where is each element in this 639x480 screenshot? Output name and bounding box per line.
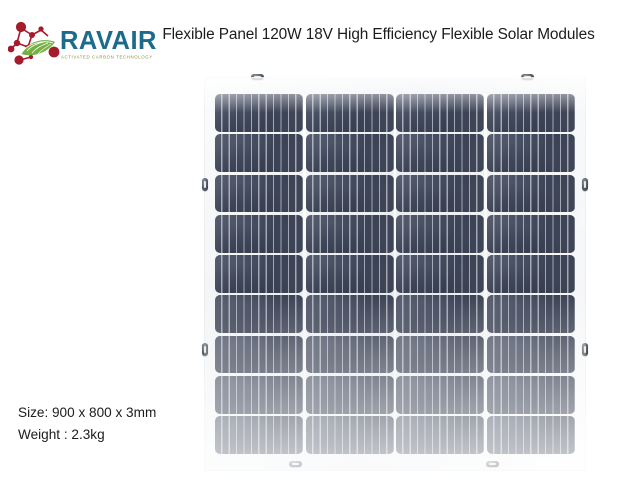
solar-cell [487,255,575,293]
grommet-hole [584,346,586,353]
solar-cell [306,94,394,132]
grommet-hole [292,463,299,465]
solar-cell [396,175,484,213]
solar-cell [215,336,303,374]
grommet-left-lower [202,343,208,356]
solar-cell [487,376,575,414]
brand-tagline-text: ACTIVATED CARBON TECHNOLOGY [61,55,153,60]
solar-cell [306,376,394,414]
solar-cell [487,134,575,172]
solar-cell [487,215,575,253]
solar-cell [487,295,575,333]
solar-cell [396,336,484,374]
flexible-solar-panel-image [204,77,586,471]
solar-cell [396,255,484,293]
page-title: Flexible Panel 120W 18V High Efficiency … [0,26,639,44]
solar-cell [487,94,575,132]
grommet-bottom-left [289,461,302,467]
solar-cell [306,134,394,172]
grommet-hole [204,181,206,188]
solar-cell [306,255,394,293]
grommet-hole [254,76,261,78]
spec-size: Size: 900 x 800 x 3mm [18,402,156,424]
solar-cell [215,295,303,333]
grommet-right-upper [582,178,588,191]
grommet-bottom-right [486,461,499,467]
grommet-top-right [521,74,534,80]
solar-cell [487,175,575,213]
solar-cell [215,175,303,213]
solar-cell [487,416,575,454]
solar-cell [396,416,484,454]
solar-cell [396,215,484,253]
grommet-hole [204,346,206,353]
solar-cell [396,295,484,333]
solar-cell [306,416,394,454]
grommet-hole [584,181,586,188]
solar-cell [215,416,303,454]
solar-cell [306,175,394,213]
cell-column-seam [394,94,396,454]
solar-cell [306,336,394,374]
solar-cell [396,94,484,132]
solar-cell [215,94,303,132]
solar-cell [396,134,484,172]
grommet-left-upper [202,178,208,191]
grommet-top-left [251,74,264,80]
solar-cell [215,255,303,293]
grommet-hole [524,76,531,78]
spec-weight: Weight : 2.3kg [18,424,156,446]
cell-column-seam [484,94,486,454]
solar-cell [306,295,394,333]
grommet-right-lower [582,343,588,356]
solar-cell [396,376,484,414]
solar-cell [215,215,303,253]
solar-cell [215,376,303,414]
solar-cell [215,134,303,172]
cell-column-seam [303,94,305,454]
spec-block: Size: 900 x 800 x 3mm Weight : 2.3kg [18,402,156,446]
solar-cell [306,215,394,253]
solar-cell [487,336,575,374]
grommet-hole [489,463,496,465]
